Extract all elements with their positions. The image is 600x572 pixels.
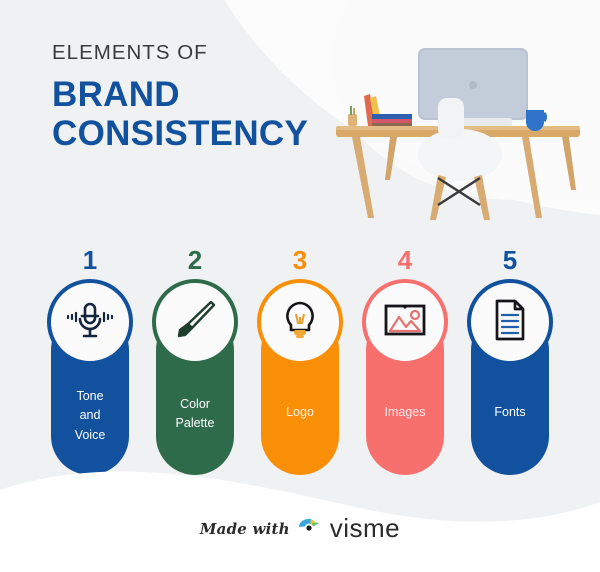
- card-label-line: Color: [149, 395, 241, 414]
- image-frame-icon: [380, 298, 430, 347]
- visme-logo-icon: [297, 515, 323, 542]
- card-label-line: Images: [359, 403, 451, 422]
- desk-workspace-illustration: [330, 30, 586, 226]
- card-label: Fonts: [464, 403, 556, 422]
- card-icon-circle: [47, 279, 133, 365]
- card-number: 3: [293, 247, 307, 273]
- lightbulb-icon: [275, 295, 325, 350]
- made-with-label: Made with: [200, 520, 290, 538]
- visme-wordmark: visme: [330, 513, 400, 544]
- card-label-line: and: [44, 406, 136, 425]
- card-label-line: Tone: [44, 387, 136, 406]
- microphone-icon: [64, 294, 116, 351]
- card-label-line: Palette: [149, 414, 241, 433]
- card-number: 5: [503, 247, 517, 273]
- eyebrow-text: ELEMENTS OF: [52, 42, 352, 65]
- card-label: Color Palette: [149, 395, 241, 434]
- infographic-canvas: ELEMENTS OF BRAND CONSISTENCY: [0, 0, 600, 572]
- card-label: Images: [359, 403, 451, 422]
- card-label: Logo: [254, 403, 346, 422]
- background-wave-bottom: [0, 432, 600, 572]
- card-icon-circle: [257, 279, 343, 365]
- title-line-1: BRAND: [52, 75, 352, 114]
- card-icon-circle: [467, 279, 553, 365]
- card-number: 2: [188, 247, 202, 273]
- title-line-2: CONSISTENCY: [52, 114, 352, 153]
- card-label-line: Logo: [254, 403, 346, 422]
- page-title: BRAND CONSISTENCY: [52, 75, 352, 153]
- card-label-line: Fonts: [464, 403, 556, 422]
- paintbrush-icon: [170, 295, 220, 350]
- header-block: ELEMENTS OF BRAND CONSISTENCY: [52, 42, 352, 153]
- document-icon: [487, 296, 533, 349]
- footer-branding: Made with visme: [0, 513, 600, 544]
- card-number: 4: [398, 247, 412, 273]
- card-icon-circle: [362, 279, 448, 365]
- card-number: 1: [83, 247, 97, 273]
- card-icon-circle: [152, 279, 238, 365]
